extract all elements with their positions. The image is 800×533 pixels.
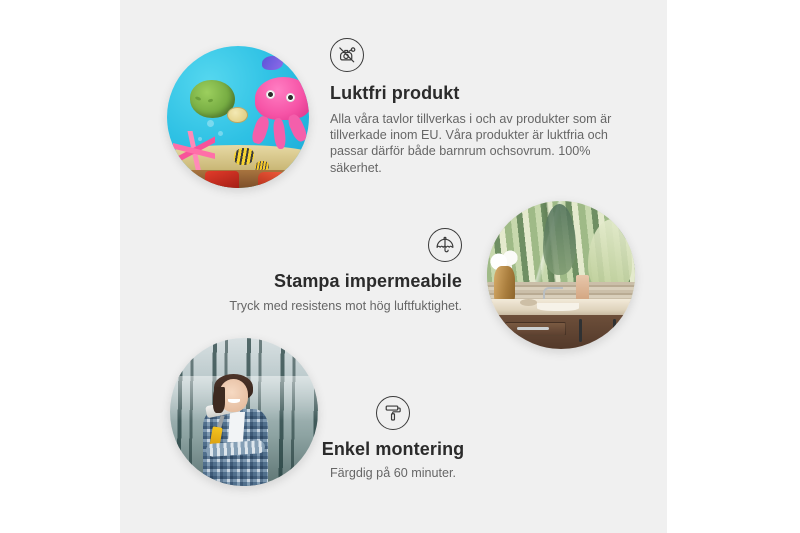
- feature-description: Alla våra tavlor tillverkas i och av pro…: [330, 111, 618, 177]
- feature-description: Tryck med resistens mot hög luftfuktighe…: [180, 298, 462, 314]
- feature-easy-mounting: Enkel montering Färgdig på 60 minuter.: [268, 396, 518, 481]
- drawer-handle: [517, 327, 550, 330]
- feature-title: Luktfri produkt: [330, 82, 618, 105]
- bathroom-wallpaper-photo: [487, 201, 635, 349]
- cabinet-handle: [613, 319, 616, 341]
- underwater-scene-photo: [167, 46, 309, 188]
- feature-title: Enkel montering: [268, 438, 518, 461]
- octopus-eye-icon: [266, 90, 275, 99]
- umbrella-icon: [428, 228, 462, 262]
- shirt-collar: [228, 412, 245, 442]
- smile: [228, 399, 240, 403]
- product-feature-banner: Luktfri produkt Alla våra tavlor tillver…: [0, 0, 800, 533]
- sea-turtle-icon: [190, 80, 235, 118]
- yellow-fish-icon: [234, 148, 254, 165]
- feature-title: Stampa impermeabile: [180, 270, 462, 293]
- no-fragrance-icon: [330, 38, 364, 72]
- feature-waterproof-print: Stampa impermeabile Tryck med resistens …: [180, 228, 462, 314]
- feature-description: Färgdig på 60 minuter.: [268, 465, 518, 481]
- octopus-icon: [255, 77, 309, 120]
- paint-roller-icon: [376, 396, 410, 430]
- red-object: [205, 171, 239, 188]
- sink-basin: [537, 303, 578, 310]
- octopus-eye-icon: [286, 93, 295, 102]
- feature-odor-free: Luktfri produkt Alla våra tavlor tillver…: [330, 38, 618, 176]
- hair: [213, 387, 225, 414]
- coral-icon: [173, 131, 216, 171]
- bubble-icon: [207, 120, 214, 127]
- cabinet-handle: [579, 319, 582, 341]
- red-object: [258, 172, 286, 188]
